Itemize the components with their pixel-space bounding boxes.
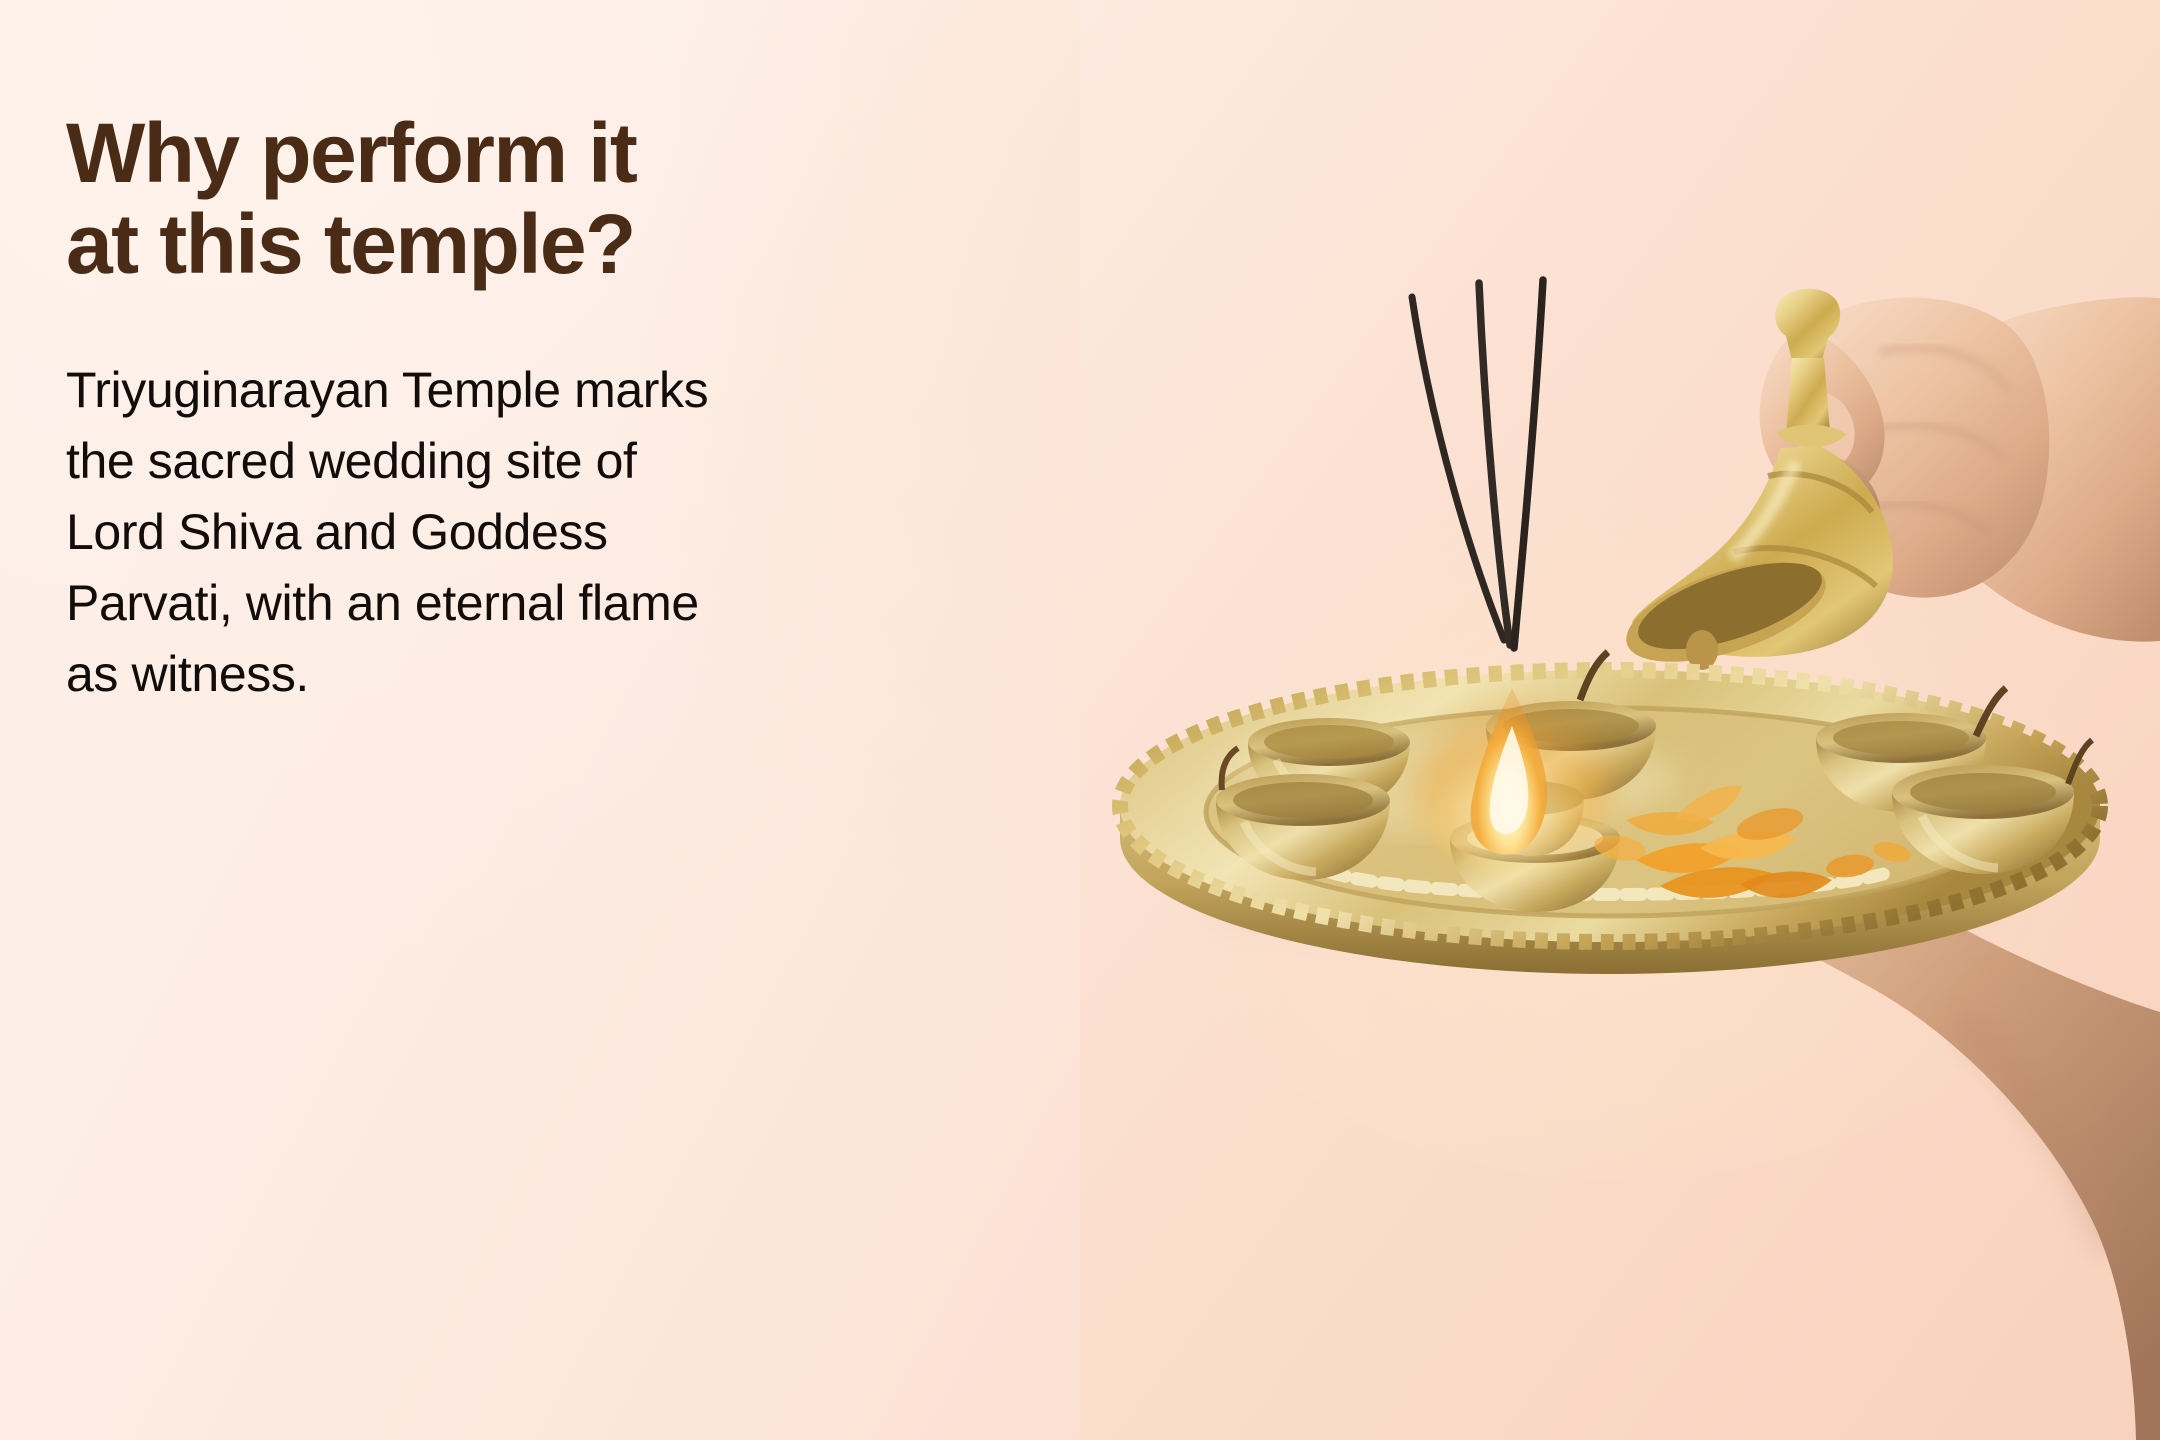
page-title: Why perform it at this temple?: [66, 108, 726, 289]
puja-illustration: [1080, 0, 2160, 1440]
slide-root: Why perform it at this temple? Triyugina…: [0, 0, 2160, 1440]
text-column: Why perform it at this temple? Triyugina…: [66, 108, 726, 710]
bell-stem: [1786, 358, 1830, 434]
body-paragraph: Triyuginarayan Temple marks the sacred w…: [66, 355, 726, 710]
puja-photo: [1080, 0, 2160, 1440]
